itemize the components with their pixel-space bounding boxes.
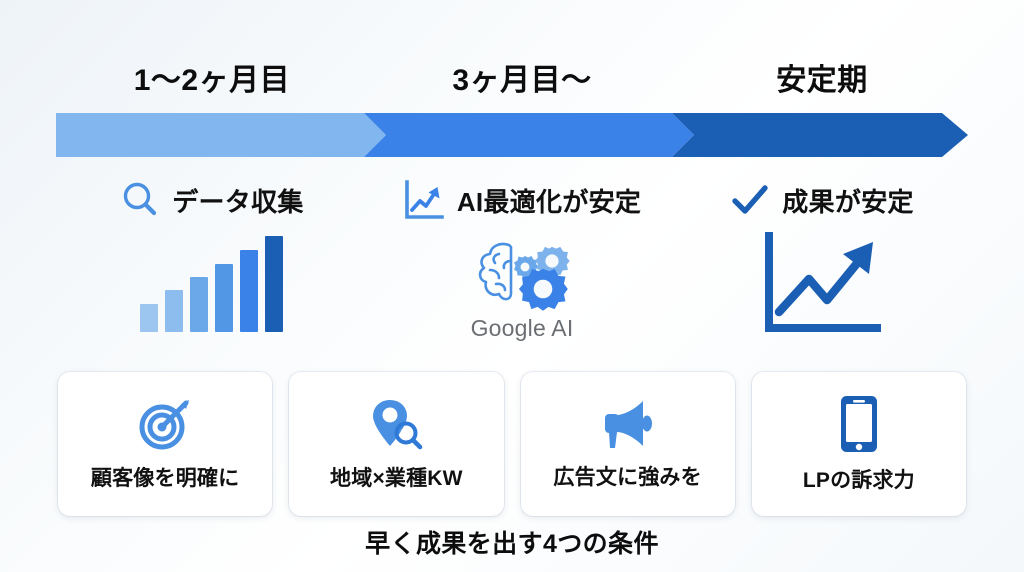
milestone-3: 成果が安定 xyxy=(676,172,968,228)
bar-5 xyxy=(240,250,258,332)
condition-card-label-2: 地域×業種KW xyxy=(330,462,463,492)
map-pin-search-icon xyxy=(368,396,424,452)
phase-label-1: 1〜2ヶ月目 xyxy=(56,58,368,104)
google-ai-lockup: Google AI xyxy=(466,237,578,342)
megaphone-icon xyxy=(599,397,657,451)
timeline-segment-2 xyxy=(364,113,694,157)
condition-card-2[interactable]: 地域×業種KW xyxy=(289,372,503,516)
infographic-canvas: 1〜2ヶ月目 3ヶ月目〜 安定期 データ収集 xyxy=(0,0,1024,572)
milestone-label-1: データ収集 xyxy=(172,182,304,219)
timeline-segment-1 xyxy=(56,113,386,157)
phase-label-row: 1〜2ヶ月目 3ヶ月目〜 安定期 xyxy=(56,58,968,104)
ascending-bar-chart-icon xyxy=(140,236,283,332)
bar-4 xyxy=(215,264,233,332)
condition-card-row: 顧客像を明確に 地域×業種KW xyxy=(58,372,966,516)
magnifier-icon xyxy=(120,180,160,220)
graphic-google-ai: Google AI xyxy=(368,230,676,348)
timeline-arrow-bar xyxy=(56,113,968,157)
brain-gears-icon xyxy=(466,237,578,313)
milestone-2: AI最適化が安定 xyxy=(368,172,676,228)
bar-3 xyxy=(190,277,208,332)
phase-label-2: 3ヶ月目〜 xyxy=(368,58,676,104)
timeline-segment-3 xyxy=(672,113,968,157)
milestone-label-2: AI最適化が安定 xyxy=(457,182,641,219)
check-icon xyxy=(730,180,770,220)
condition-card-1[interactable]: 顧客像を明確に xyxy=(58,372,272,516)
condition-card-4[interactable]: LPの訴求力 xyxy=(752,372,966,516)
smartphone-icon xyxy=(838,394,880,454)
condition-card-label-1: 顧客像を明確に xyxy=(91,462,239,492)
milestone-1: データ収集 xyxy=(56,172,368,228)
bar-6 xyxy=(265,236,283,332)
condition-card-label-4: LPの訴求力 xyxy=(803,464,915,494)
milestone-row: データ収集 AI最適化が安定 成果が安定 xyxy=(56,172,968,228)
graphic-bar-chart xyxy=(56,230,368,348)
phase-label-3: 安定期 xyxy=(676,58,968,104)
condition-card-label-3: 広告文に強みを xyxy=(553,461,701,491)
trending-arrow-chart-icon xyxy=(759,232,885,340)
graphic-row: Google AI xyxy=(56,230,968,348)
line-chart-up-icon xyxy=(403,179,445,221)
target-icon xyxy=(137,396,193,452)
footer-caption: 早く成果を出す4つの条件 xyxy=(0,524,1024,560)
milestone-label-3: 成果が安定 xyxy=(782,182,914,219)
graphic-trending-chart xyxy=(676,230,968,348)
condition-card-3[interactable]: 広告文に強みを xyxy=(521,372,735,516)
bar-2 xyxy=(165,290,183,332)
bar-1 xyxy=(140,304,158,332)
google-ai-wordmark: Google AI xyxy=(471,315,574,342)
